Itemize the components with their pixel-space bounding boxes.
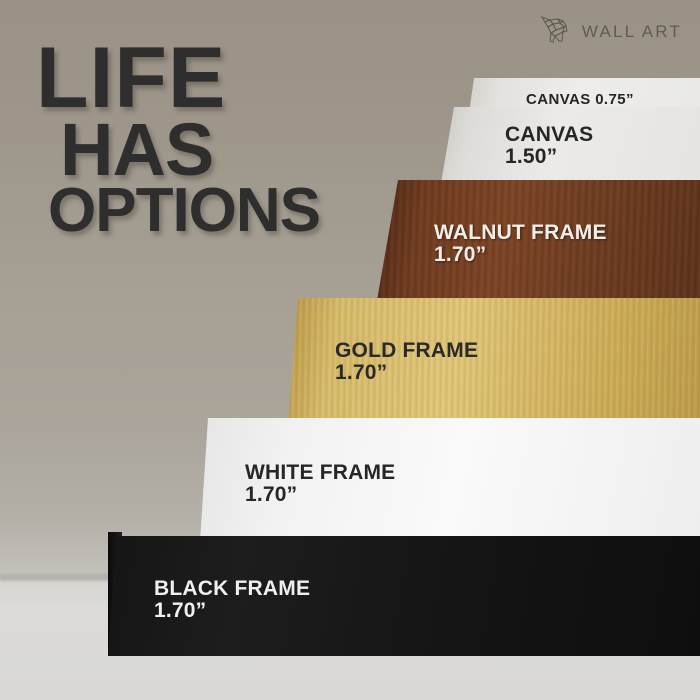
product-options-poster: WALL ART LIFE HAS OPTIONS CANVAS 0.75” C… [0, 0, 700, 700]
product-label-canvas-075: CANVAS 0.75” [526, 92, 634, 108]
headline-line-1: LIFE [36, 42, 366, 116]
product-label-gold-frame: GOLD FRAME 1.70” [335, 340, 478, 385]
product-slab-black-frame[interactable]: BLACK FRAME 1.70” [108, 536, 700, 656]
page-title: LIFE HAS OPTIONS [36, 42, 366, 237]
brand-lockup: WALL ART [539, 14, 682, 49]
product-slab-gold-frame[interactable]: GOLD FRAME 1.70” [288, 298, 700, 424]
headline-line-2: HAS [60, 118, 366, 182]
product-label-walnut-frame: WALNUT FRAME 1.70” [434, 222, 607, 267]
origami-goat-icon [539, 14, 573, 49]
brand-name: WALL ART [582, 22, 682, 42]
product-slab-white-frame[interactable]: WHITE FRAME 1.70” [200, 418, 700, 542]
product-slab-walnut-frame[interactable]: WALNUT FRAME 1.70” [376, 180, 700, 306]
headline-line-3: OPTIONS [48, 184, 366, 237]
product-label-black-frame: BLACK FRAME 1.70” [154, 578, 310, 623]
product-label-white-frame: WHITE FRAME 1.70” [245, 462, 395, 507]
product-label-canvas-150: CANVAS 1.50” [505, 124, 593, 169]
product-slab-canvas-150[interactable]: CANVAS 1.50” [440, 107, 700, 189]
